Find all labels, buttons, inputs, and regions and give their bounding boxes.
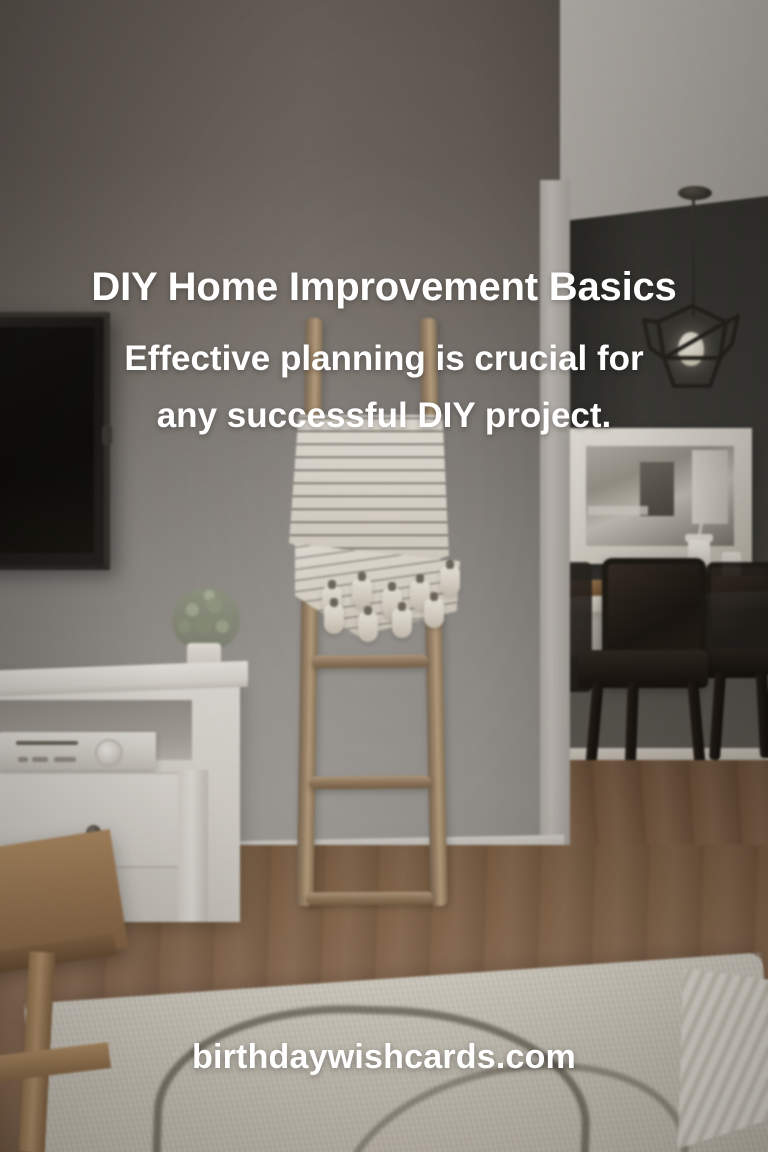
text-overlay: DIY Home Improvement Basics Effective pl… (0, 0, 768, 1152)
pin-subheadline: Effective planning is crucial for any su… (104, 330, 664, 444)
pin-headline: DIY Home Improvement Basics (0, 262, 768, 312)
site-url-watermark: birthdaywishcards.com (0, 1038, 768, 1077)
pin-card: DIY Home Improvement Basics Effective pl… (0, 0, 768, 1152)
